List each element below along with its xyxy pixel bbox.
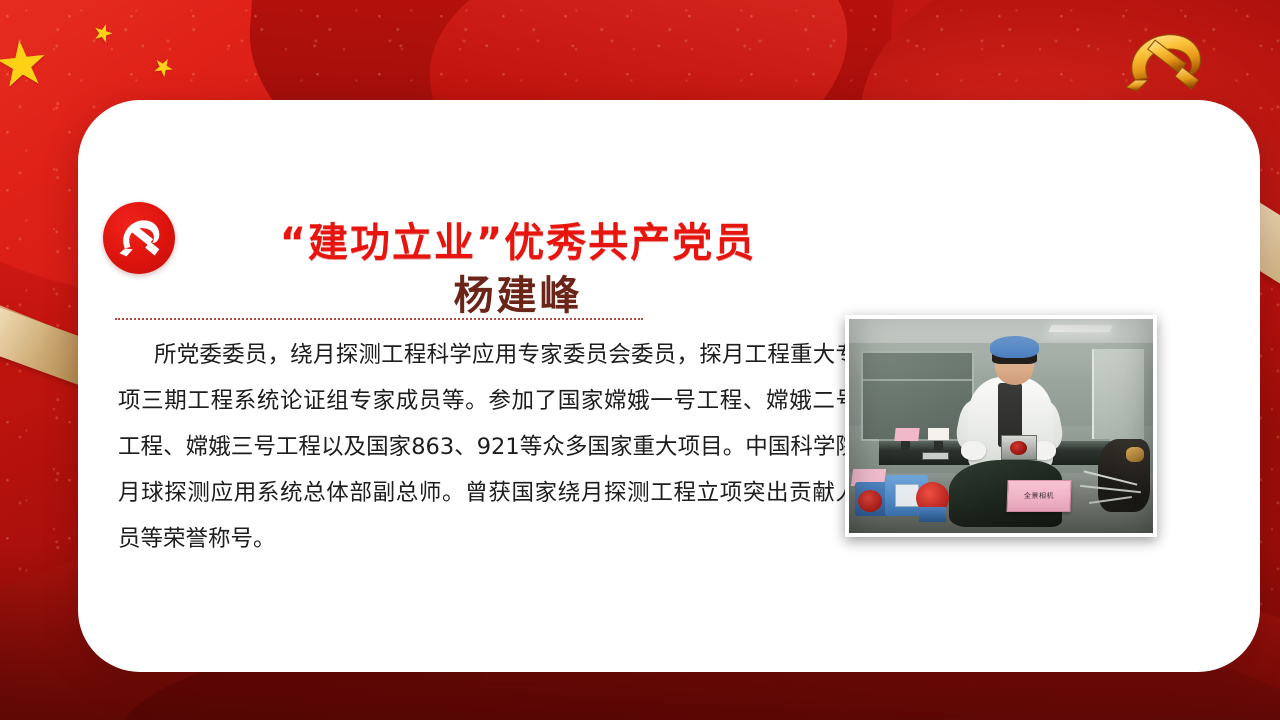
- page-title: “建功立业”优秀共产党员: [198, 210, 838, 268]
- person-photo: 全景相机: [845, 315, 1157, 537]
- flag-star-small-2: ★: [147, 52, 178, 84]
- person-name: 杨建峰: [198, 263, 838, 321]
- party-badge: [103, 202, 175, 274]
- biography-paragraph: 所党委委员，绕月探测工程科学应用专家委员会委员，探月工程重大专项三期工程系统论证…: [118, 332, 858, 562]
- hammer-and-sickle-icon: [114, 211, 164, 266]
- content-card: “建功立业”优秀共产党员 杨建峰 所党委委员，绕月探测工程科学应用专家委员会委员…: [78, 100, 1260, 672]
- cpc-party-emblem-icon: [1110, 22, 1222, 100]
- flag-star-large: ★: [0, 31, 53, 98]
- photo-vignette: [849, 319, 1153, 533]
- flag-star-small-1: ★: [89, 19, 117, 48]
- dotted-divider: [115, 318, 643, 320]
